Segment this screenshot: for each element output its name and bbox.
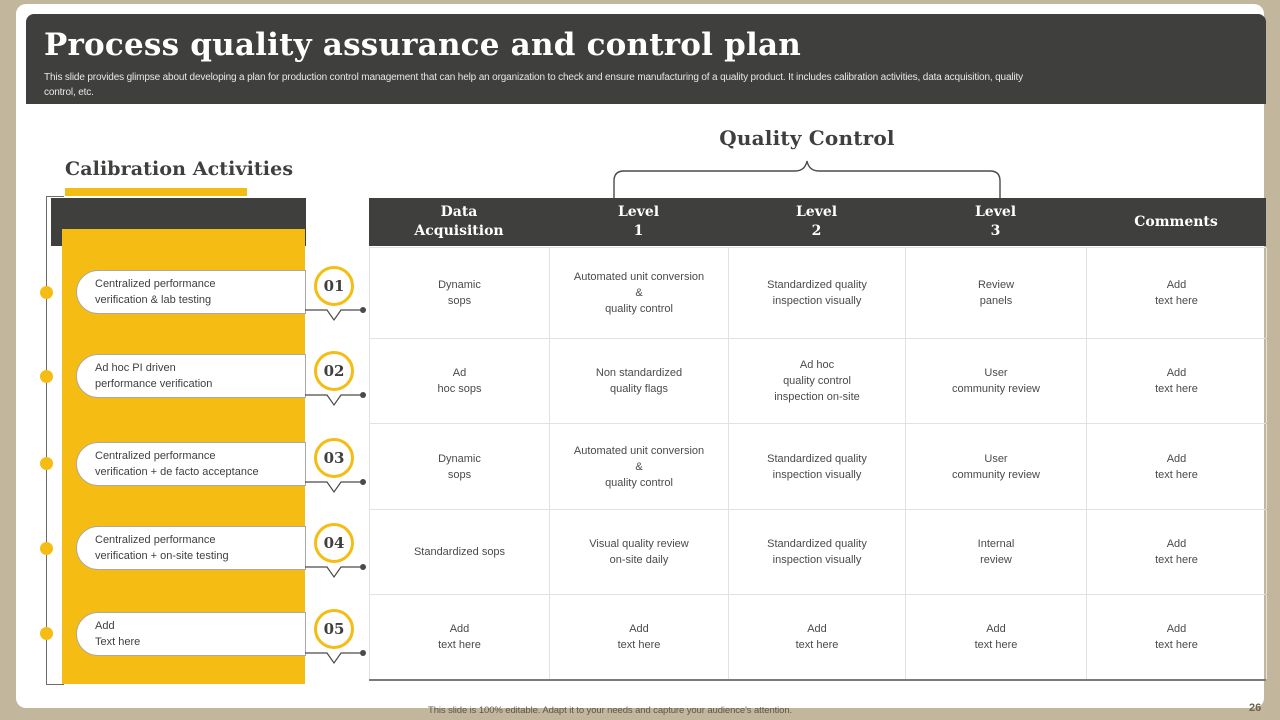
activity-item-02[interactable]: Ad hoc PI driven performance verificatio…	[76, 354, 306, 398]
connector-arrow-icon	[305, 478, 367, 496]
table-cell-level-2: Add text here	[729, 595, 906, 679]
table-column-header-data-acquisition: Data Acquisition	[369, 198, 549, 246]
table-cell-comments: Add text here	[1087, 424, 1267, 509]
activity-label-line2: verification + on-site testing	[95, 548, 305, 564]
calibration-activities-title: Calibration Activities	[65, 158, 293, 180]
slide-header: Process quality assurance and control pl…	[26, 14, 1266, 104]
page-subtitle: This slide provides glimpse about develo…	[44, 71, 1044, 100]
curly-brace-icon	[612, 159, 1002, 199]
timeline-dot	[40, 627, 53, 640]
cell-line: quality control	[605, 475, 673, 491]
cell-line: on-site daily	[610, 552, 669, 568]
column-header-line1: Data	[441, 203, 478, 222]
cell-line: Standardized quality	[767, 451, 867, 467]
slide-footer: This slide is 100% editable. Adapt it to…	[380, 702, 1280, 720]
table-row: Dynamic sops Automated unit conversion &…	[370, 247, 1266, 339]
connector-arrow-icon	[305, 649, 367, 667]
timeline-dot	[40, 370, 53, 383]
table-bottom-rule	[369, 679, 1266, 681]
cell-line: Standardized quality	[767, 277, 867, 293]
cell-line: Add	[807, 621, 827, 637]
cell-line: hoc sops	[437, 381, 481, 397]
cell-line: Add	[986, 621, 1006, 637]
cell-line: Add	[1167, 536, 1187, 552]
cell-line: Dynamic	[438, 277, 481, 293]
cell-line: text here	[1155, 293, 1198, 309]
footer-note: This slide is 100% editable. Adapt it to…	[428, 705, 792, 716]
cell-line: inspection visually	[773, 293, 862, 309]
table-cell-level-3: User community review	[906, 424, 1087, 509]
cell-line: Standardized sops	[414, 544, 505, 560]
table-cell-comments: Add text here	[1087, 339, 1267, 423]
cell-line: Add	[629, 621, 649, 637]
connector-arrow-icon	[305, 306, 367, 324]
table-body: Dynamic sops Automated unit conversion &…	[369, 247, 1266, 680]
activity-label-line1: Centralized performance	[95, 532, 305, 548]
cell-line: User	[984, 365, 1007, 381]
activity-number-badge-04: 04	[314, 523, 354, 563]
table-cell-level-3: Review panels	[906, 248, 1087, 338]
page-title: Process quality assurance and control pl…	[44, 27, 801, 63]
activity-label-line2: performance verification	[95, 376, 305, 392]
cell-line: panels	[980, 293, 1012, 309]
cell-line: text here	[1155, 637, 1198, 653]
table-column-header-level-1: Level 1	[549, 198, 728, 246]
activity-label-line1: Centralized performance	[95, 448, 305, 464]
cell-line: inspection visually	[773, 467, 862, 483]
connector-arrow-icon	[305, 563, 367, 581]
cell-line: text here	[618, 637, 661, 653]
cell-line: User	[984, 451, 1007, 467]
page-number: 26	[1249, 702, 1261, 714]
cell-line: community review	[952, 381, 1040, 397]
cell-line: text here	[1155, 467, 1198, 483]
cell-line: sops	[448, 293, 471, 309]
activity-label-line1: Add	[95, 618, 305, 634]
column-header-line1: Level	[618, 203, 659, 222]
cell-line: quality control	[605, 301, 673, 317]
cell-line: quality flags	[610, 381, 668, 397]
slide-canvas: Process quality assurance and control pl…	[16, 4, 1264, 708]
activity-label-line1: Centralized performance	[95, 276, 305, 292]
cell-line: Add	[1167, 277, 1187, 293]
cell-line: Add	[1167, 621, 1187, 637]
column-header-line1: Comments	[1134, 213, 1218, 232]
table-column-header-level-2: Level 2	[728, 198, 905, 246]
cell-line: text here	[796, 637, 839, 653]
cell-line: Add	[1167, 451, 1187, 467]
table-cell-level-2: Standardized quality inspection visually	[729, 424, 906, 509]
table-cell-data-acquisition: Add text here	[370, 595, 550, 679]
cell-line: text here	[438, 637, 481, 653]
table-cell-level-1: Visual quality review on-site daily	[550, 510, 729, 594]
cell-line: text here	[1155, 552, 1198, 568]
cell-line: Ad	[453, 365, 466, 381]
table-cell-data-acquisition: Ad hoc sops	[370, 339, 550, 423]
cell-line: &	[635, 285, 642, 301]
table-column-header-level-3: Level 3	[905, 198, 1086, 246]
timeline-dot	[40, 457, 53, 470]
table-row: Standardized sops Visual quality review …	[370, 510, 1266, 595]
table-cell-level-1: Automated unit conversion & quality cont…	[550, 248, 729, 338]
cell-line: text here	[975, 637, 1018, 653]
cell-line: Internal	[978, 536, 1015, 552]
cell-line: community review	[952, 467, 1040, 483]
activity-item-04[interactable]: Centralized performance verification + o…	[76, 526, 306, 570]
table-row: Add text here Add text here Add text her…	[370, 595, 1266, 680]
activity-label-line2: Text here	[95, 634, 305, 650]
table-row: Dynamic sops Automated unit conversion &…	[370, 424, 1266, 510]
cell-line: Dynamic	[438, 451, 481, 467]
table-cell-comments: Add text here	[1087, 248, 1267, 338]
activity-number-badge-02: 02	[314, 351, 354, 391]
cell-line: inspection on-site	[774, 389, 860, 405]
cell-line: Review	[978, 277, 1014, 293]
column-header-line2: 3	[991, 222, 1001, 241]
timeline-rail	[46, 196, 47, 684]
table-cell-level-2: Ad hoc quality control inspection on-sit…	[729, 339, 906, 423]
activity-item-01[interactable]: Centralized performance verification & l…	[76, 270, 306, 314]
table-cell-level-1: Automated unit conversion & quality cont…	[550, 424, 729, 509]
table-cell-data-acquisition: Dynamic sops	[370, 248, 550, 338]
cell-line: Automated unit conversion	[574, 269, 704, 285]
table-header-row: Data Acquisition Level 1 Level 2 Level 3…	[369, 198, 1266, 246]
cell-line: sops	[448, 467, 471, 483]
activity-label-line1: Ad hoc PI driven	[95, 360, 305, 376]
table-cell-comments: Add text here	[1087, 510, 1267, 594]
table-cell-level-2: Standardized quality inspection visually	[729, 248, 906, 338]
table-cell-data-acquisition: Standardized sops	[370, 510, 550, 594]
column-header-line2: 1	[634, 222, 644, 241]
activity-number-badge-03: 03	[314, 438, 354, 478]
table-cell-level-2: Standardized quality inspection visually	[729, 510, 906, 594]
connector-arrow-icon	[305, 391, 367, 409]
cell-line: inspection visually	[773, 552, 862, 568]
cell-line: Add	[450, 621, 470, 637]
cell-line: review	[980, 552, 1012, 568]
table-cell-level-1: Add text here	[550, 595, 729, 679]
activity-number-badge-01: 01	[314, 266, 354, 306]
activity-label-line2: verification + de facto acceptance	[95, 464, 305, 480]
column-header-line2: 2	[812, 222, 822, 241]
activity-number-badge-05: 05	[314, 609, 354, 649]
table-cell-level-3: Internal review	[906, 510, 1087, 594]
timeline-rail-top-tick	[46, 196, 64, 197]
cell-line: Add	[1167, 365, 1187, 381]
cell-line: &	[635, 459, 642, 475]
timeline-dot	[40, 542, 53, 555]
timeline-rail-bottom-tick	[46, 684, 64, 685]
activity-item-03[interactable]: Centralized performance verification + d…	[76, 442, 306, 486]
cell-line: Ad hoc	[800, 357, 834, 373]
timeline-dot	[40, 286, 53, 299]
quality-control-title: Quality Control	[614, 126, 1000, 150]
activity-item-05[interactable]: Add Text here	[76, 612, 306, 656]
table-cell-level-1: Non standardized quality flags	[550, 339, 729, 423]
cell-line: Standardized quality	[767, 536, 867, 552]
column-header-line2: Acquisition	[414, 222, 503, 241]
cell-line: Automated unit conversion	[574, 443, 704, 459]
column-header-line1: Level	[975, 203, 1016, 222]
cell-line: quality control	[783, 373, 851, 389]
table-row: Ad hoc sops Non standardized quality fla…	[370, 339, 1266, 424]
table-cell-level-3: User community review	[906, 339, 1087, 423]
column-header-line1: Level	[796, 203, 837, 222]
cell-line: Visual quality review	[589, 536, 688, 552]
cell-line: Non standardized	[596, 365, 682, 381]
table-cell-data-acquisition: Dynamic sops	[370, 424, 550, 509]
table-cell-level-3: Add text here	[906, 595, 1087, 679]
table-cell-comments: Add text here	[1087, 595, 1267, 679]
activity-label-line2: verification & lab testing	[95, 292, 305, 308]
table-column-header-comments: Comments	[1086, 198, 1266, 246]
cell-line: text here	[1155, 381, 1198, 397]
calibration-title-underline	[65, 188, 247, 196]
